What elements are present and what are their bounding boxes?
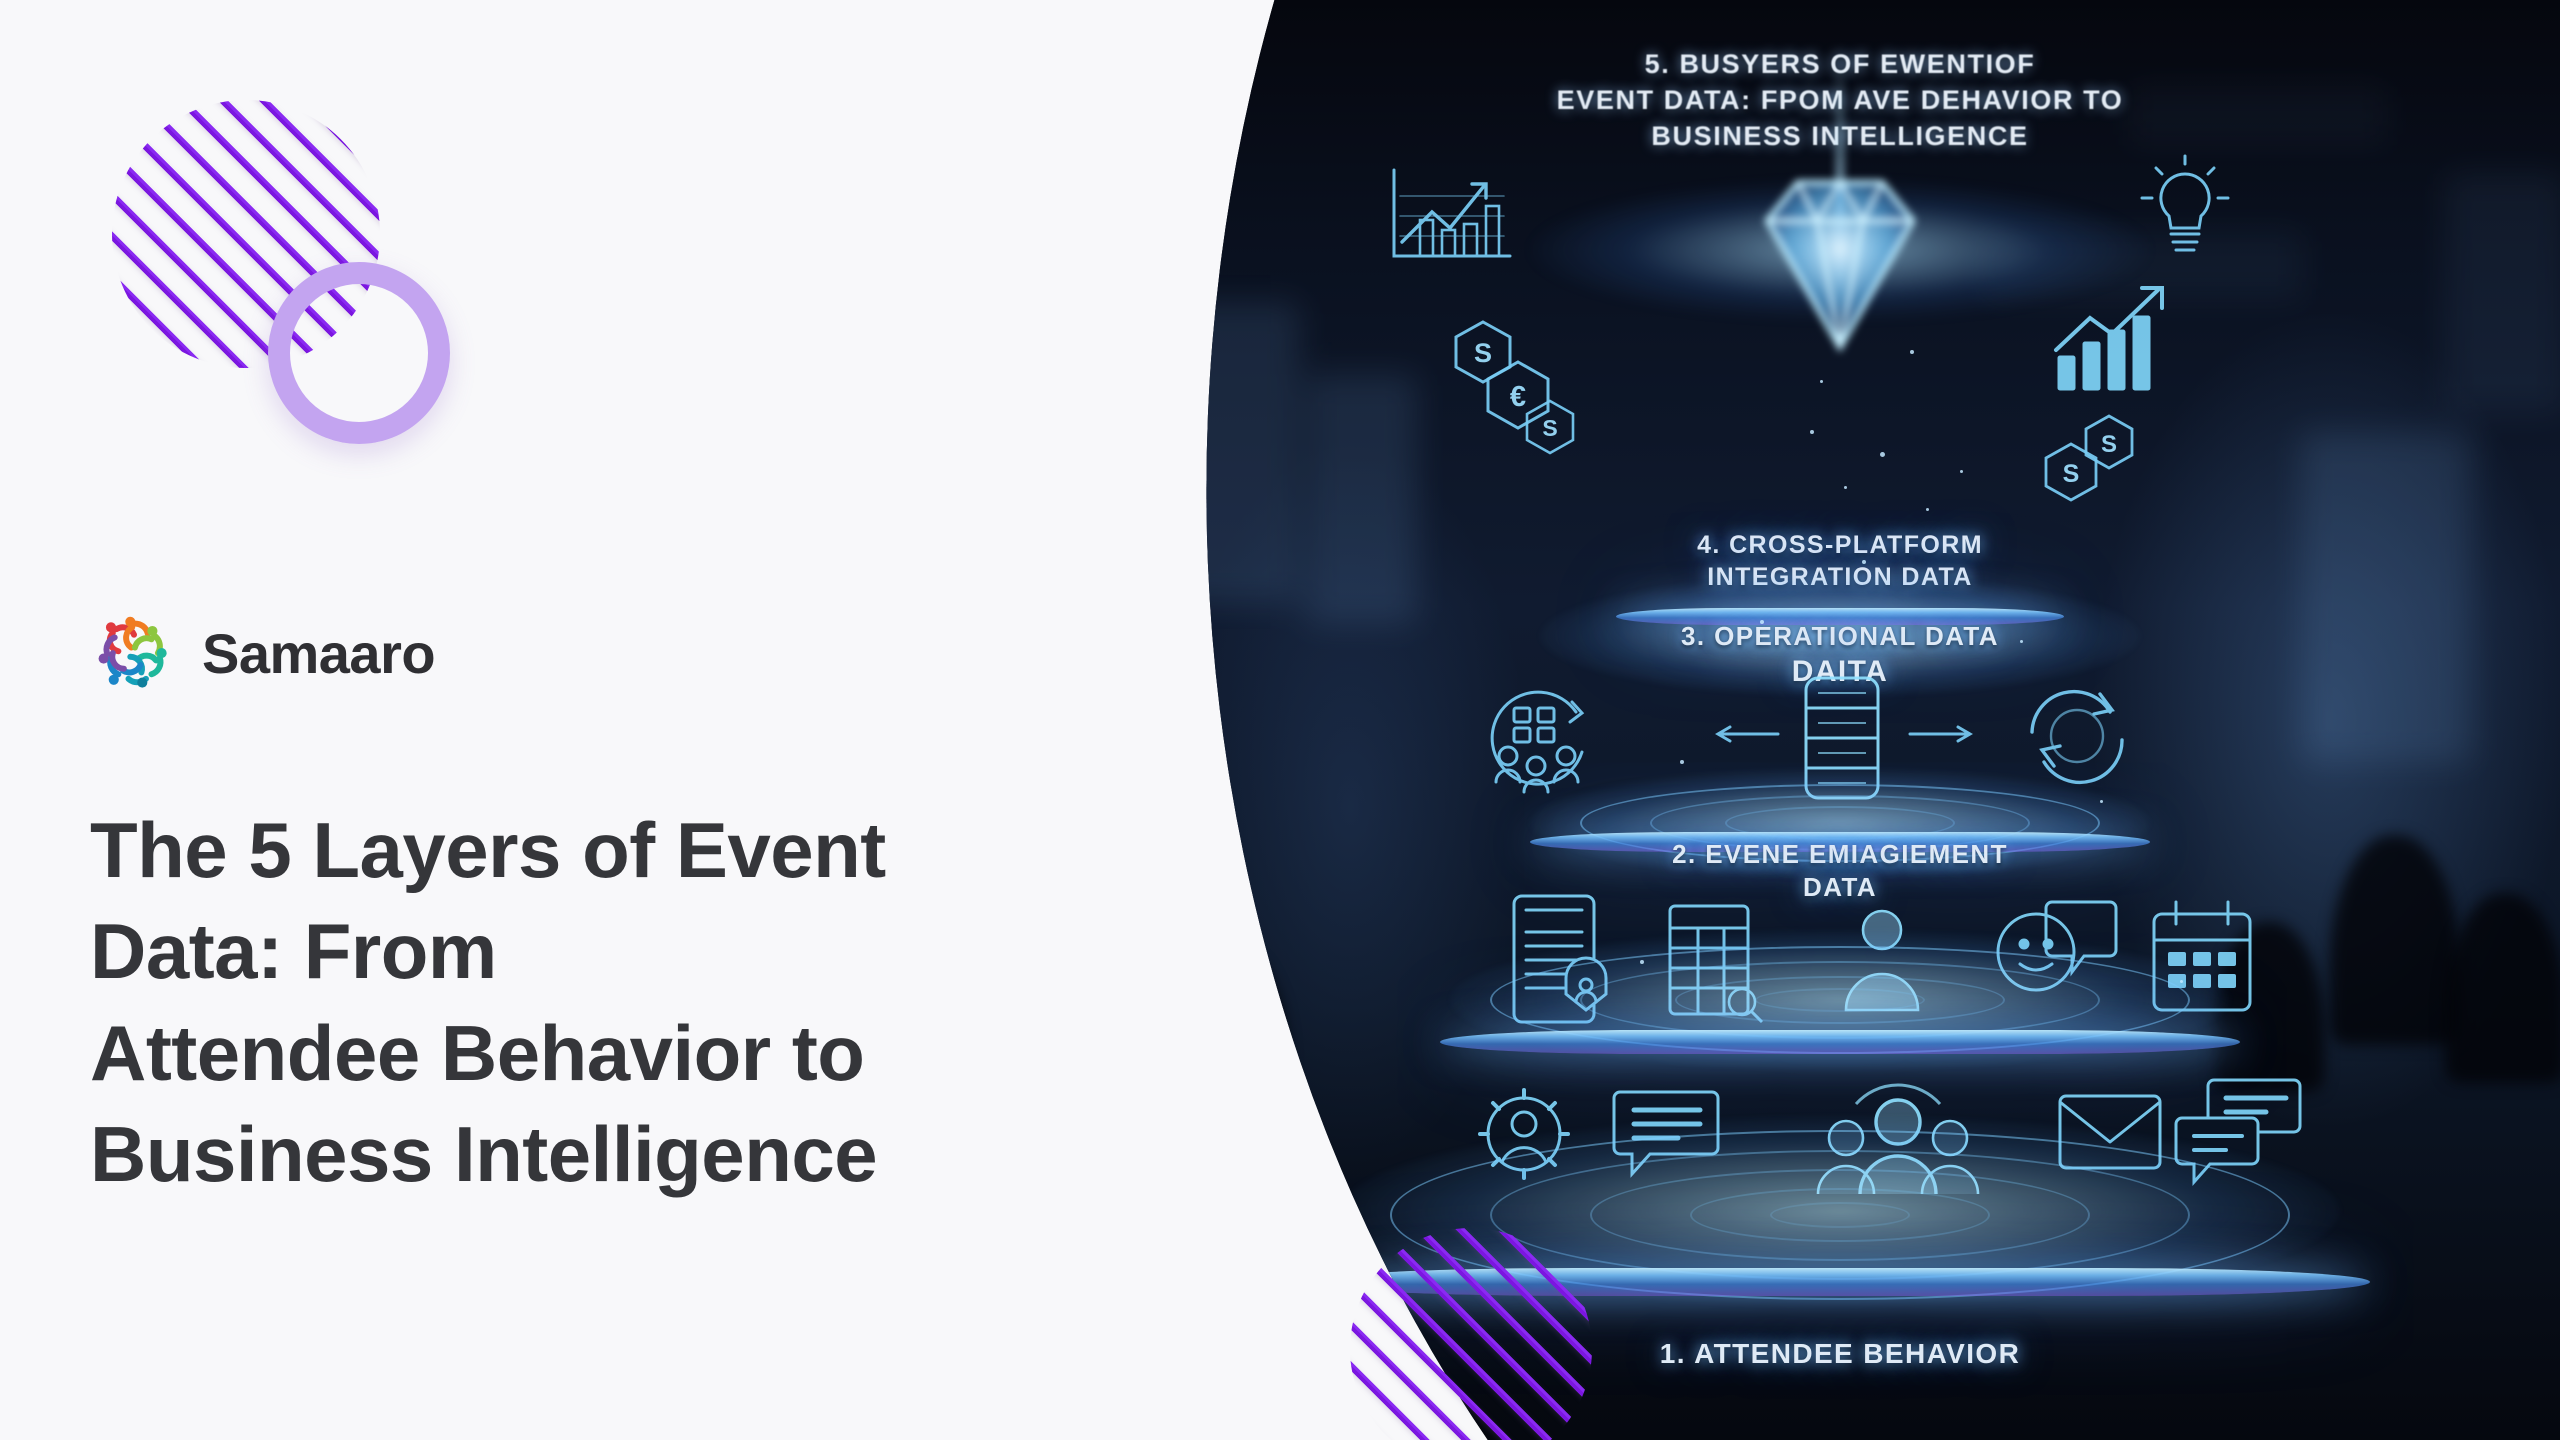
particle [2020,640,2023,643]
slide-canvas: 5. BUSYERS OF EWENTIOF EVENT DATA: FPOM … [0,0,2560,1440]
bar-chart-trend-icon [1380,160,1520,270]
headline-line-4: Business Intelligence [90,1104,1150,1205]
particle [1862,560,1866,564]
layer-4-label-line-1: 4. CROSS-PLATFORM [1510,530,2170,562]
layer-2-platform [1440,1030,2240,1054]
particle [1960,470,1963,473]
dollar-hexagon-icon: S [1522,398,1578,460]
particle [1760,620,1764,624]
particle [1680,760,1684,764]
layer-1-label-line-1: 1. ATTENDEE BEHAVIOR [1430,1336,2250,1371]
particle [1910,350,1914,354]
particle [2180,980,2183,983]
brand-name: Samaaro [202,626,435,682]
lightbulb-icon [2130,150,2240,265]
bar-chart-arrow-icon [2050,278,2180,398]
flow-arrow-icon [1712,722,1782,746]
particle [1926,508,1929,511]
layer-1-platform [1310,1268,2370,1296]
headline-line-1: The 5 Layers of Event [90,800,1150,901]
layer-3-label-line-1: 3. OPERATIONAL DATA [1510,620,2170,653]
particle [1844,486,1847,489]
layer-2-label-line-1: 2. EVENE EMIAGIEMENT [1510,838,2170,871]
svg-text:S: S [2101,431,2117,458]
particle [1640,960,1644,964]
headline-line-2: Data: From [90,901,1150,1002]
flow-arrow-icon [1906,722,1976,746]
particle [1880,452,1885,457]
samaaro-people-circle-logo [88,608,180,700]
lavender-ring [268,262,450,444]
dollar-hexagon-icon: S [2080,412,2138,478]
left-content-panel: Samaaro The 5 Layers of Event Data: From… [0,0,1260,1440]
svg-text:S: S [2063,460,2080,488]
particle [1820,380,1823,383]
headline-line-3: Attendee Behavior to [90,1003,1150,1104]
particle [1810,430,1814,434]
svg-text:S: S [1542,415,1557,441]
particle [2100,800,2103,803]
hero-image-panel: 5. BUSYERS OF EWENTIOF EVENT DATA: FPOM … [1120,0,2560,1440]
page-title: The 5 Layers of Event Data: From Attende… [90,800,1150,1206]
data-pyramid: S € S [1120,0,2560,1440]
layer-1-label: 1. ATTENDEE BEHAVIOR [1430,1336,2250,1371]
diamond-gem-icon [1725,148,1955,378]
brand-lockup: Samaaro [88,608,435,700]
